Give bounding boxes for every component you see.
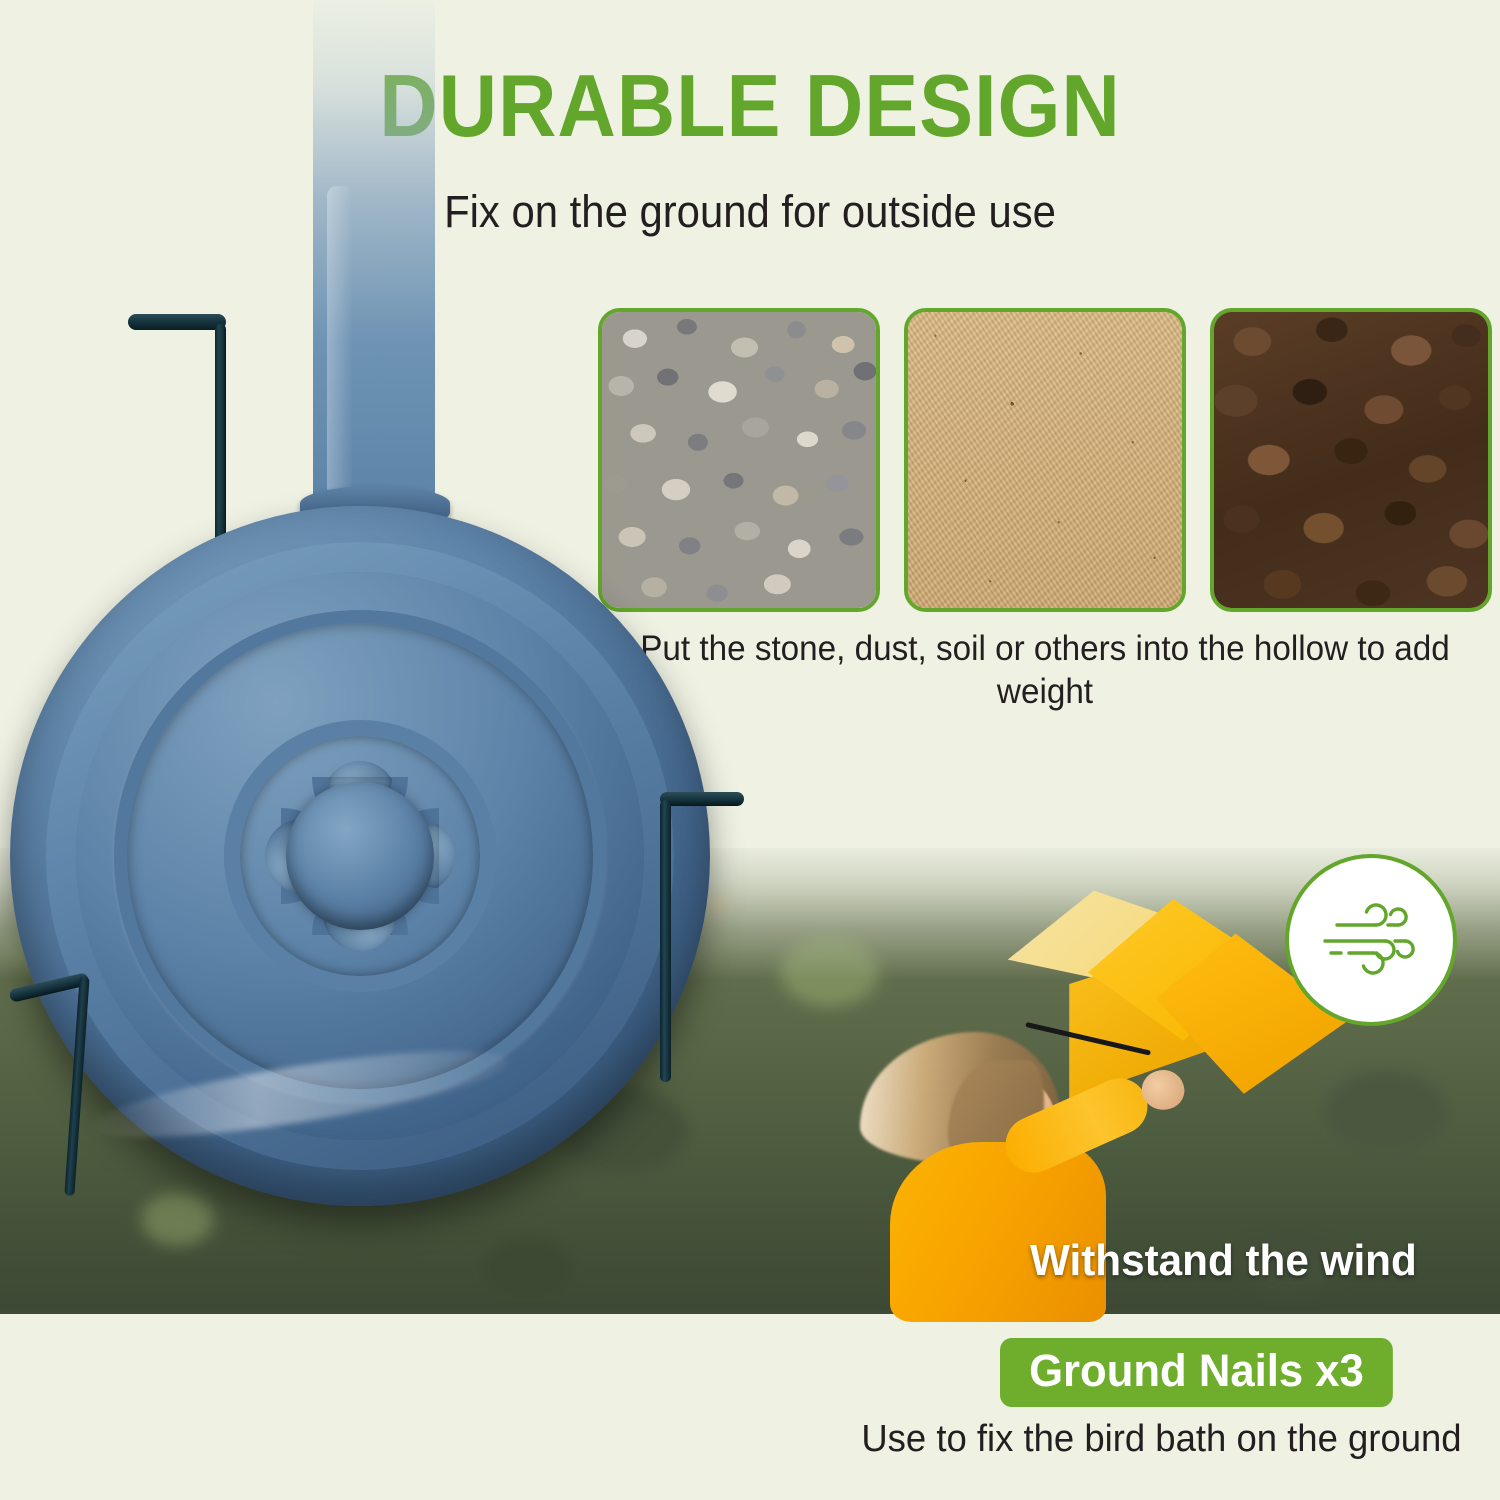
ground-nail-stake-3 xyxy=(648,792,744,1082)
ornate-base-disc xyxy=(10,506,710,1206)
fill-material-caption: Put the stone, dust, soil or others into… xyxy=(620,628,1469,713)
stake-shaft xyxy=(660,800,671,1082)
ground-nail-stake-2 xyxy=(8,936,88,1196)
swatch-dust xyxy=(904,308,1186,612)
dust-texture xyxy=(908,312,1182,608)
swatch-soil xyxy=(1210,308,1492,612)
fill-material-swatches xyxy=(598,308,1492,612)
withstand-wind-caption: Withstand the wind xyxy=(1030,1236,1417,1286)
product-infographic: DURABLE DESIGN Fix on the ground for out… xyxy=(0,0,1500,1500)
ground-nails-description: Use to fix the bird bath on the ground xyxy=(60,1418,1500,1461)
wind-icon xyxy=(1319,903,1423,977)
wind-badge xyxy=(1285,854,1457,1026)
stake-head xyxy=(660,792,744,806)
center-pole xyxy=(313,0,435,508)
base-hub xyxy=(286,782,434,930)
soil-texture xyxy=(1214,312,1488,608)
stake-shaft xyxy=(64,976,89,1196)
bird-bath-base-product xyxy=(10,0,710,1308)
ground-nails-badge: Ground Nails x3 xyxy=(1000,1338,1393,1407)
yellow-raincoat xyxy=(890,1142,1106,1322)
